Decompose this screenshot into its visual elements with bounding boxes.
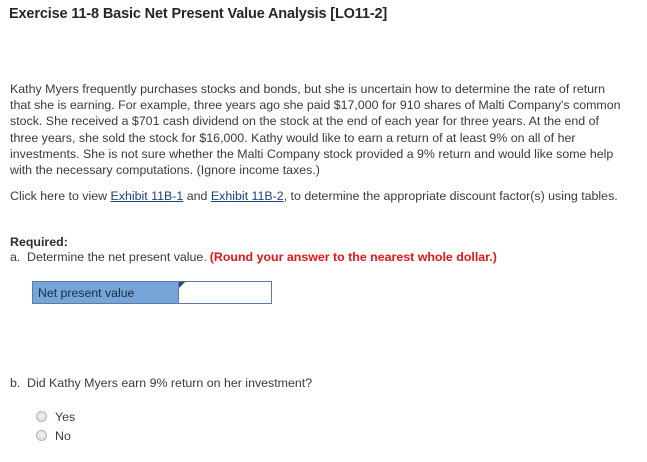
requirement-item-a: a.Determine the net present value.(Round… [10, 250, 497, 264]
radio-button-icon[interactable] [36, 411, 47, 422]
required-label: Required: [10, 235, 68, 249]
radio-label-no: No [55, 429, 71, 443]
requirement-item-b: b.Did Kathy Myers earn 9% return on her … [10, 376, 312, 390]
requirement-a-letter: a. [10, 250, 27, 264]
exhibit-instructions: Click here to view Exhibit 11B-1 and Exh… [10, 188, 626, 204]
exhibit-suffix-text: , to determine the appropriate discount … [284, 189, 618, 203]
radio-label-yes: Yes [55, 410, 75, 424]
requirement-b-letter: b. [10, 376, 27, 390]
net-present-value-input[interactable] [179, 282, 271, 303]
radio-button-icon[interactable] [36, 430, 47, 441]
radio-option-no[interactable]: No [36, 427, 75, 444]
problem-statement: Kathy Myers frequently purchases stocks … [10, 81, 622, 178]
exercise-page: Exercise 11-8 Basic Net Present Value An… [0, 0, 647, 462]
requirement-a-text: Determine the net present value. [27, 250, 207, 264]
exhibit-prefix-text: Click here to view [10, 189, 111, 203]
radio-option-yes[interactable]: Yes [36, 408, 75, 425]
return-answer-radio-group: Yes No [36, 408, 75, 446]
net-present-value-table: Net present value [32, 281, 272, 304]
page-title: Exercise 11-8 Basic Net Present Value An… [9, 6, 387, 22]
requirement-b-text: Did Kathy Myers earn 9% return on her in… [27, 376, 312, 390]
rounding-note: (Round your answer to the nearest whole … [210, 250, 497, 264]
exhibit-conjunction-text: and [183, 189, 211, 203]
exhibit-11b-2-link[interactable]: Exhibit 11B-2 [211, 189, 284, 203]
net-present-value-input-cell[interactable] [179, 282, 271, 303]
exhibit-11b-1-link[interactable]: Exhibit 11B-1 [111, 189, 184, 203]
net-present-value-row-label: Net present value [33, 282, 179, 303]
